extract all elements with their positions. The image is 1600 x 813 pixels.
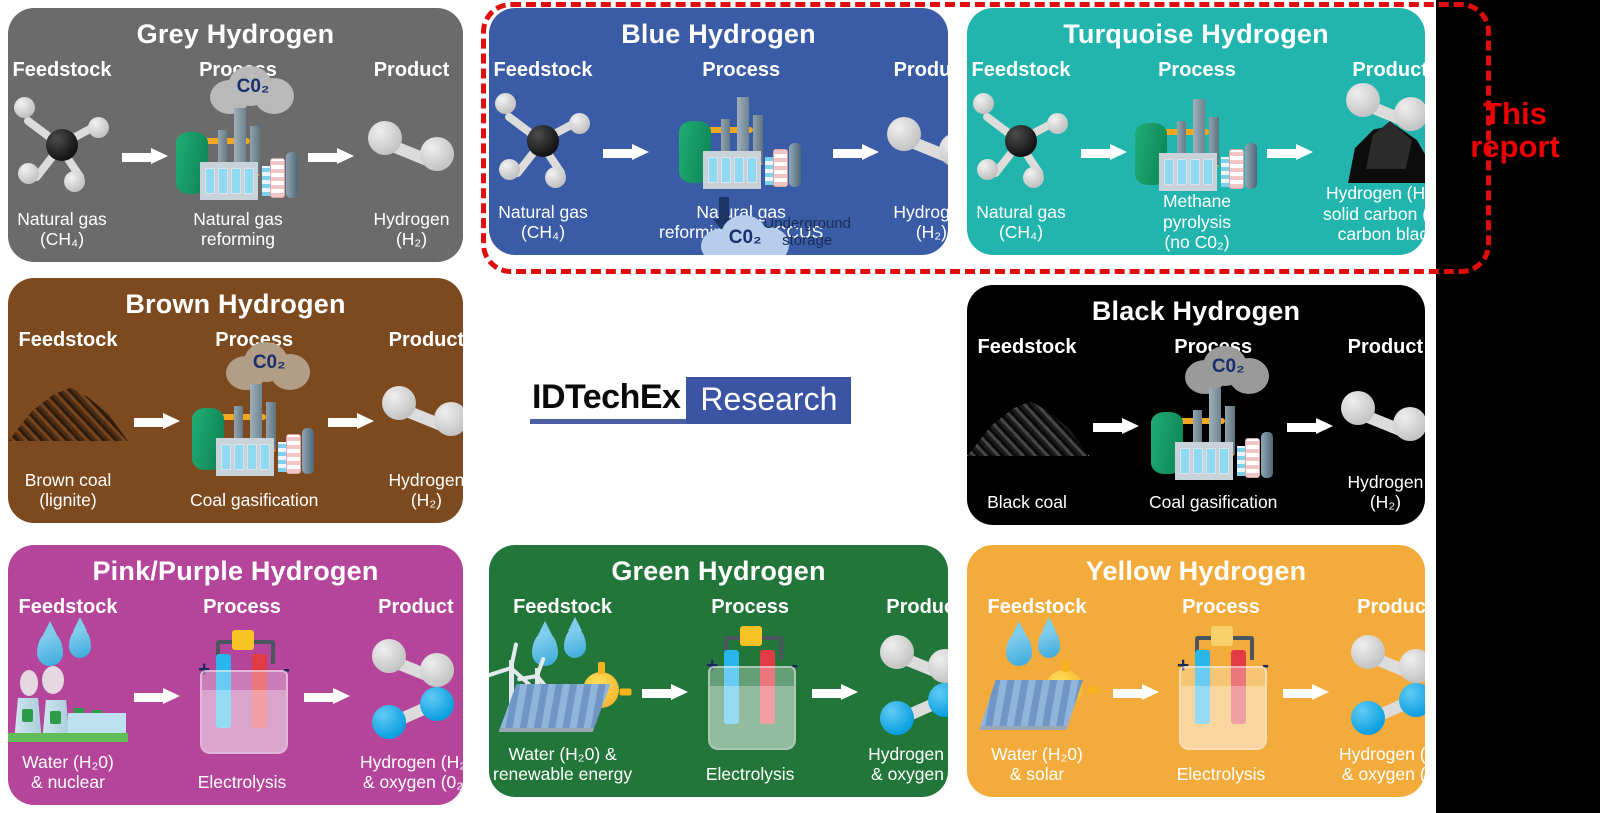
feedstock-art	[8, 618, 128, 752]
process-art: + -	[186, 618, 298, 772]
this-report-label: This report	[1460, 98, 1570, 164]
process-caption: Natural gas reforming	[189, 209, 287, 256]
arrow-right-icon	[308, 148, 354, 165]
hydrogen-molecule-icon	[1339, 387, 1425, 443]
column-header-feedstock: Feedstock	[19, 597, 118, 618]
column-process: Process C0₂	[186, 326, 322, 517]
process-art	[1133, 81, 1261, 191]
column-header-feedstock: Feedstock	[494, 60, 593, 81]
arrow-feedstock-to-process	[128, 326, 186, 517]
hydrogen-molecule-icon	[366, 117, 458, 173]
column-product: Product Hydrogen (H₂)	[1339, 333, 1425, 519]
column-header-product: Product	[886, 597, 948, 618]
column-process: Process + - Electrolysis	[1165, 593, 1277, 791]
industrial-plant-icon: C0₂	[174, 90, 302, 200]
arrow-process-to-product	[827, 56, 885, 249]
industrial-plant-icon: C0₂ Underground storage	[677, 83, 805, 199]
hydrogen-molecule-icon	[878, 633, 948, 681]
feedstock-caption: Natural gas (CH₄)	[494, 202, 592, 249]
arrow-feedstock-to-process	[1075, 56, 1133, 249]
feedstock-art	[8, 351, 128, 470]
co2-cloud-label: C0₂	[701, 227, 789, 249]
product-art	[885, 81, 948, 202]
feedstock-art	[967, 81, 1075, 202]
coal-pile-icon	[8, 379, 128, 441]
process-art: C0₂	[1145, 358, 1281, 492]
card-title: Turquoise Hydrogen	[967, 20, 1425, 48]
arrow-right-icon	[134, 688, 180, 705]
card-yellow-hydrogen[interactable]: Yellow Hydrogen Feedstock	[967, 545, 1425, 797]
column-product: Product Hydrogen (H₂)	[885, 56, 948, 249]
solar-wind-icon	[493, 668, 633, 734]
column-product: Product Hydrogen (H₂)	[380, 326, 463, 517]
co2-cloud-label: C0₂	[1185, 356, 1271, 378]
card-black-hydrogen[interactable]: Black Hydrogen Feedstock Black coal Proc…	[967, 285, 1425, 525]
industrial-plant-icon	[1133, 81, 1261, 191]
product-caption: Hydrogen (H₂) & oxygen (0₂)	[356, 752, 463, 799]
arrow-feedstock-to-process	[128, 593, 186, 799]
process-caption: Electrolysis	[194, 772, 291, 799]
column-feedstock: Feedstock Water (H₂0)	[967, 593, 1107, 791]
product-caption: Hydrogen (H₂)	[360, 209, 463, 256]
product-art	[1319, 81, 1425, 183]
methane-molecule-icon	[967, 87, 1075, 195]
product-caption: Hydrogen (H₂) & oxygen (0₂)	[1335, 744, 1425, 791]
column-process: Process + - Electrolysis	[694, 593, 806, 791]
water-droplets-icon	[526, 624, 600, 666]
feedstock-caption: Black coal	[983, 492, 1071, 519]
battery-icon	[740, 626, 762, 646]
process-art: + -	[694, 618, 806, 764]
feedstock-art	[967, 358, 1087, 492]
process-caption: Electrolysis	[1173, 764, 1270, 791]
column-product: Product Hydrogen (H₂) & solid carbon (e.…	[1319, 56, 1425, 249]
column-feedstock: Feedstock	[489, 593, 636, 791]
card-title: Blue Hydrogen	[489, 20, 948, 48]
product-caption: Hydrogen (H₂)	[1339, 472, 1425, 519]
card-title: Yellow Hydrogen	[967, 557, 1425, 585]
product-caption: Hydrogen (H₂) & oxygen (0₂)	[864, 744, 948, 791]
hydrogen-molecule-icon	[380, 382, 463, 438]
electrolysis-cell-icon: + -	[1165, 632, 1277, 750]
product-art	[864, 618, 948, 744]
column-header-feedstock: Feedstock	[513, 597, 612, 618]
column-header-process: Process	[702, 60, 780, 81]
solid-carbon-rock-icon	[1342, 127, 1425, 183]
card-green-hydrogen[interactable]: Green Hydrogen Feedstock	[489, 545, 948, 797]
arrow-right-icon	[603, 144, 649, 161]
arrow-process-to-product	[1277, 593, 1335, 791]
process-art: C0₂ Underground storage	[655, 81, 827, 202]
arrow-right-icon	[1267, 144, 1313, 161]
column-header-feedstock: Feedstock	[978, 337, 1077, 358]
arrow-process-to-product	[302, 56, 360, 256]
column-header-product: Product	[1348, 337, 1424, 358]
feedstock-caption: Natural gas (CH₄)	[13, 209, 111, 256]
card-brown-hydrogen[interactable]: Brown Hydrogen Feedstock Brown coal (lig…	[8, 278, 463, 523]
process-art: C0₂	[186, 351, 322, 490]
arrow-process-to-product	[298, 593, 356, 799]
column-header-process: Process	[203, 597, 281, 618]
column-product: Product Hydrogen (H₂) & oxygen	[864, 593, 948, 791]
methane-molecule-icon	[489, 87, 597, 195]
column-header-process: Process	[1182, 597, 1260, 618]
arrow-right-icon	[1113, 684, 1159, 701]
process-caption: Coal gasification	[1145, 492, 1281, 519]
column-process: Process C0₂	[1145, 333, 1281, 519]
column-header-product: Product	[389, 330, 463, 351]
co2-cloud-icon: C0₂	[1185, 344, 1271, 396]
column-feedstock: Feedstock	[8, 593, 128, 799]
hydrogen-molecule-icon	[370, 637, 462, 685]
arrow-right-icon	[812, 684, 858, 701]
column-header-product: Product	[378, 597, 454, 618]
arrow-feedstock-to-process	[597, 56, 655, 249]
feedstock-caption: Water (H₂0) & nuclear	[18, 752, 118, 799]
card-title: Green Hydrogen	[489, 557, 948, 585]
hydrogen-molecule-icon	[1349, 633, 1425, 681]
feedstock-caption: Natural gas (CH₄)	[972, 202, 1070, 249]
card-title: Grey Hydrogen	[8, 20, 463, 48]
column-header-product: Product	[374, 60, 450, 81]
feedstock-art	[967, 618, 1107, 744]
card-turquoise-hydrogen[interactable]: Turquoise Hydrogen Feedstock	[967, 8, 1425, 255]
electrolysis-cell-icon: + -	[694, 632, 806, 750]
column-header-product: Product	[1352, 60, 1425, 81]
card-pink-purple-hydrogen[interactable]: Pink/Purple Hydrogen Feedstock	[8, 545, 463, 805]
product-art	[1339, 358, 1425, 472]
card-blue-hydrogen[interactable]: Blue Hydrogen Feedstock	[489, 8, 948, 255]
logo-product-text: Research	[686, 377, 851, 424]
feedstock-art	[8, 81, 116, 209]
oxygen-molecule-icon	[878, 681, 948, 729]
battery-icon	[1211, 626, 1233, 646]
product-caption: Hydrogen (H₂) & solid carbon (e.g. carbo…	[1319, 183, 1425, 251]
coal-pile-icon	[967, 394, 1087, 456]
product-art	[360, 81, 463, 209]
arrow-feedstock-to-process	[1087, 333, 1145, 519]
column-header-process: Process	[1158, 60, 1236, 81]
column-process: Process	[655, 56, 827, 249]
nuclear-plant-icon	[8, 670, 128, 742]
card-title: Brown Hydrogen	[8, 290, 463, 318]
process-caption: Electrolysis	[702, 764, 799, 791]
co2-cloud-label: C0₂	[226, 352, 312, 374]
product-caption: Hydrogen (H₂)	[380, 470, 463, 517]
process-art: + -	[1165, 618, 1277, 764]
feedstock-caption: Water (H₂0) & solar	[987, 744, 1087, 791]
solar-panel-icon	[967, 668, 1107, 734]
process-caption: Methane pyrolysis (no C0₂)	[1133, 191, 1261, 255]
arrow-right-icon	[1081, 144, 1127, 161]
arrow-feedstock-to-process	[636, 593, 694, 791]
industrial-plant-icon: C0₂	[1149, 370, 1277, 480]
arrow-process-to-product	[1261, 56, 1319, 249]
product-art	[356, 618, 463, 752]
arrow-process-to-product	[1281, 333, 1339, 519]
water-droplets-icon	[31, 624, 105, 666]
arrow-feedstock-to-process	[116, 56, 174, 256]
process-caption: Coal gasification	[186, 490, 322, 517]
column-feedstock: Feedstock Natural gas	[489, 56, 597, 249]
product-art	[1335, 618, 1425, 744]
industrial-plant-icon: C0₂	[190, 366, 318, 476]
process-art: C0₂	[174, 81, 302, 209]
card-grey-hydrogen[interactable]: Grey Hydrogen Feedstock	[8, 8, 463, 262]
column-header-feedstock: Feedstock	[19, 330, 118, 351]
feedstock-art	[489, 81, 597, 202]
column-process: Process + - Electrolysis	[186, 593, 298, 799]
column-product: Product Hydrogen (H₂) & oxygen	[356, 593, 463, 799]
column-header-feedstock: Feedstock	[13, 60, 112, 81]
arrow-right-icon	[134, 413, 180, 430]
card-title: Black Hydrogen	[967, 297, 1425, 325]
arrow-right-icon	[833, 144, 879, 161]
arrow-feedstock-to-process	[1107, 593, 1165, 791]
card-title: Pink/Purple Hydrogen	[8, 557, 463, 585]
oxygen-molecule-icon	[1349, 681, 1425, 729]
co2-cloud-icon: C0₂	[226, 340, 312, 392]
idtechex-research-logo: IDTechEx Research	[530, 377, 851, 424]
co2-cloud-icon: C0₂	[210, 64, 296, 116]
feedstock-caption: Brown coal (lignite)	[21, 470, 116, 517]
column-process: Process C0₂	[174, 56, 302, 256]
column-feedstock: Feedstock Natural gas	[8, 56, 116, 256]
arrow-process-to-product	[322, 326, 380, 517]
methane-molecule-icon	[8, 91, 116, 199]
feedstock-art	[489, 618, 636, 744]
column-feedstock: Feedstock Black coal	[967, 333, 1087, 519]
column-product: Product Hydrogen (H₂) & oxygen	[1335, 593, 1425, 791]
arrow-process-to-product	[806, 593, 864, 791]
co2-cloud-label: C0₂	[210, 76, 296, 98]
arrow-right-icon	[304, 688, 350, 705]
hydrogen-molecule-icon	[885, 113, 948, 169]
column-header-feedstock: Feedstock	[988, 597, 1087, 618]
oxygen-molecule-icon	[370, 685, 462, 733]
arrow-right-icon	[1283, 684, 1329, 701]
column-product: Product Hydrogen (H₂)	[360, 56, 463, 256]
hydrogen-molecule-icon	[1344, 81, 1425, 129]
column-header-product: Product	[1357, 597, 1425, 618]
arrow-right-icon	[122, 148, 168, 165]
column-process: Process	[1133, 56, 1261, 249]
column-feedstock: Feedstock Brown coal (lignite)	[8, 326, 128, 517]
logo-brand-text: IDTechEx	[530, 377, 686, 424]
column-header-product: Product	[894, 60, 948, 81]
battery-icon	[232, 630, 254, 650]
column-header-process: Process	[711, 597, 789, 618]
arrow-right-icon	[642, 684, 688, 701]
arrow-right-icon	[1287, 418, 1333, 435]
product-art	[380, 351, 463, 470]
product-caption: Hydrogen (H₂)	[885, 202, 948, 249]
feedstock-caption: Water (H₂0) & renewable energy	[489, 744, 636, 791]
column-header-feedstock: Feedstock	[972, 60, 1071, 81]
electrolysis-cell-icon: + -	[186, 636, 298, 754]
arrow-right-icon	[1093, 418, 1139, 435]
column-feedstock: Feedstock Natural gas	[967, 56, 1075, 249]
arrow-right-icon	[328, 413, 374, 430]
infographic-stage: Grey Hydrogen Feedstock	[0, 0, 1600, 813]
